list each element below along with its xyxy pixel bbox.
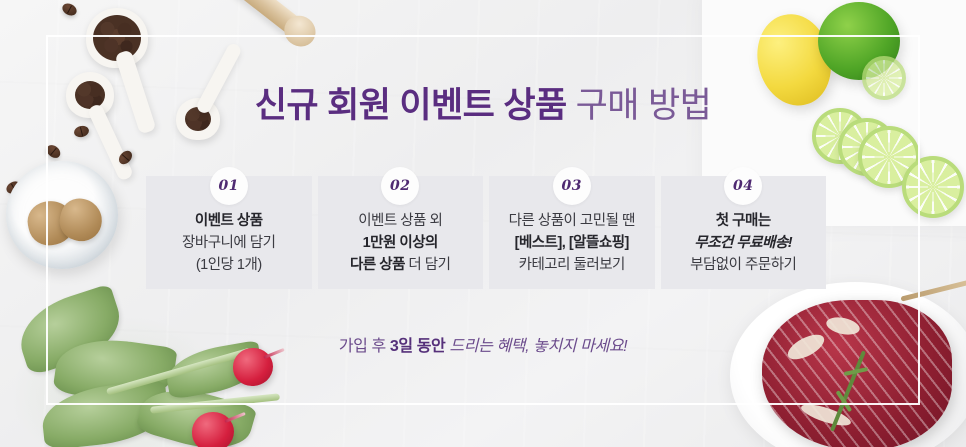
- step-card-2[interactable]: 02 이벤트 상품 외 1만원 이상의 다른 상품 더 담기: [318, 176, 484, 289]
- step-4-line-1-text: 첫 구매는: [716, 213, 771, 229]
- step-card-3[interactable]: 03 다른 상품이 고민될 땐 [베스트], [알뜰쇼핑] 카테고리 둘러보기: [489, 176, 655, 289]
- step-text-2: 이벤트 상품 외 1만원 이상의 다른 상품 더 담기: [350, 210, 450, 276]
- step-text-1: 이벤트 상품 장바구니에 담기 (1인당 1개): [182, 210, 275, 276]
- step-2-line-3-rest: 더 담기: [405, 257, 451, 273]
- step-4-line-3: 부담없이 주문하기: [690, 254, 796, 276]
- step-3-line-1: 다른 상품이 고민될 땐: [509, 210, 635, 232]
- step-3-line-2-text: [베스트], [알뜰쇼핑]: [515, 235, 629, 251]
- step-1-line-1-text: 이벤트 상품: [195, 213, 263, 229]
- steps-list: 01 이벤트 상품 장바구니에 담기 (1인당 1개) 02 이벤트 상품 외 …: [146, 176, 826, 289]
- step-card-4[interactable]: 04 첫 구매는 무조건 무료배송! 부담없이 주문하기: [661, 176, 827, 289]
- step-2-line-3: 다른 상품 더 담기: [350, 254, 450, 276]
- promo-banner: 신규 회원 이벤트 상품 구매 방법 01 이벤트 상품 장바구니에 담기 (1…: [0, 0, 966, 447]
- step-badge-2: 02: [381, 167, 419, 205]
- footnote-highlight: 3일 동안: [390, 338, 446, 355]
- step-1-line-1: 이벤트 상품: [182, 210, 275, 232]
- step-2-line-3-strong: 다른 상품: [350, 257, 405, 273]
- step-2-line-2: 1만원 이상의: [350, 232, 450, 254]
- title-light-part: 구매 방법: [567, 86, 712, 125]
- step-badge-3: 03: [553, 167, 591, 205]
- step-3-line-2: [베스트], [알뜰쇼핑]: [509, 232, 635, 254]
- step-text-4: 첫 구매는 무조건 무료배송! 부담없이 주문하기: [690, 210, 796, 276]
- step-badge-4: 04: [724, 167, 762, 205]
- step-1-line-2: 장바구니에 담기: [182, 232, 275, 254]
- step-4-line-1: 첫 구매는: [690, 210, 796, 232]
- promo-footnote: 가입 후 3일 동안 드리는 혜택, 놓치지 마세요!: [0, 332, 966, 356]
- step-card-1[interactable]: 01 이벤트 상품 장바구니에 담기 (1인당 1개): [146, 176, 312, 289]
- footnote-tail: 드리는 혜택, 놓치지 마세요!: [445, 338, 627, 355]
- step-badge-1: 01: [210, 167, 248, 205]
- step-4-line-2: 무조건 무료배송!: [690, 232, 796, 254]
- step-2-line-1: 이벤트 상품 외: [350, 210, 450, 232]
- step-2-line-2-text: 1만원 이상의: [363, 235, 438, 251]
- banner-content: 신규 회원 이벤트 상품 구매 방법 01 이벤트 상품 장바구니에 담기 (1…: [0, 0, 966, 447]
- step-1-line-3: (1인당 1개): [182, 254, 275, 276]
- step-text-3: 다른 상품이 고민될 땐 [베스트], [알뜰쇼핑] 카테고리 둘러보기: [509, 210, 635, 276]
- step-4-line-2-text: 무조건 무료배송!: [694, 235, 792, 251]
- page-title: 신규 회원 이벤트 상품 구매 방법: [0, 84, 966, 128]
- step-3-line-3: 카테고리 둘러보기: [509, 254, 635, 276]
- footnote-lead: 가입 후: [339, 338, 390, 355]
- title-strong-part: 신규 회원 이벤트 상품: [255, 86, 567, 125]
